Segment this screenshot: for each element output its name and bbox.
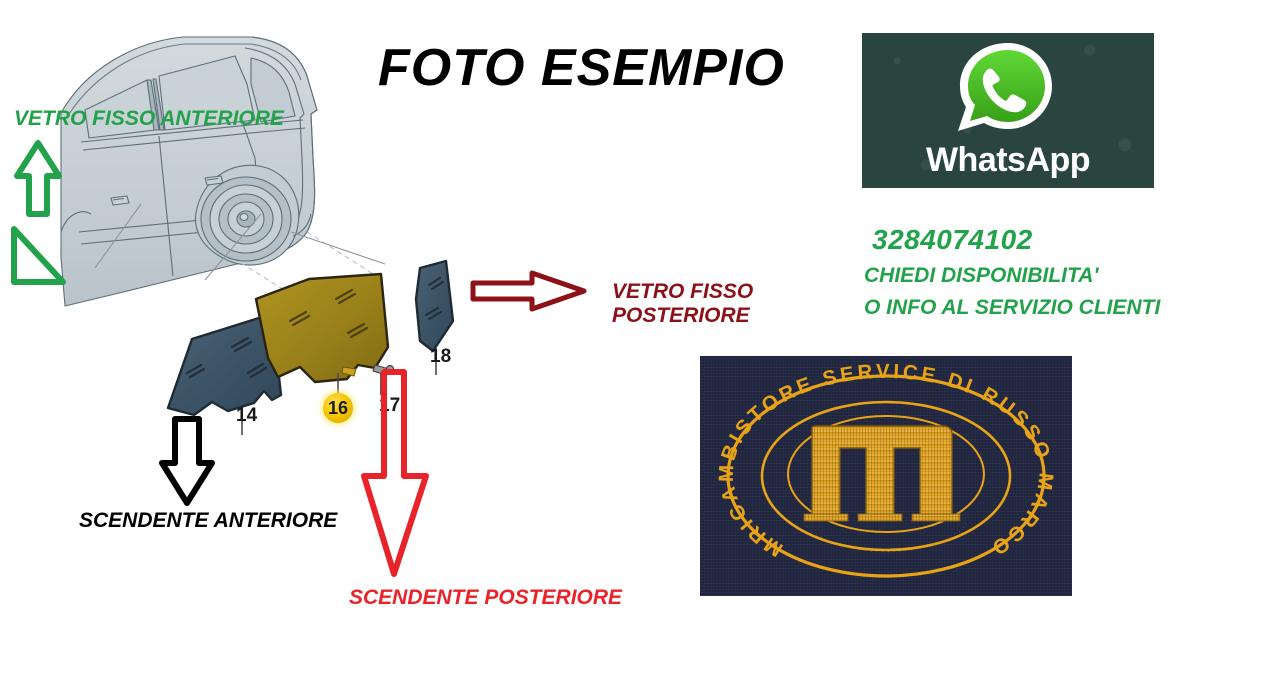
down-arrow-icon-red — [360, 368, 432, 585]
label-vetro-fisso-posteriore: VETRO FISSO POSTERIORE — [612, 280, 753, 327]
down-arrow-icon-black — [157, 415, 217, 512]
triangle-icon-green — [8, 225, 68, 292]
whatsapp-wordmark: WhatsApp — [862, 141, 1154, 180]
part-number-18: 18 — [430, 346, 451, 368]
up-arrow-icon-green — [14, 140, 62, 223]
availability-line-1: CHIEDI DISPONIBILITA' — [864, 264, 1098, 288]
right-arrow-icon-darkred — [470, 269, 588, 318]
whatsapp-icon — [934, 39, 1082, 150]
phone-number[interactable]: 3284074102 — [872, 224, 1033, 256]
whatsapp-banner: WhatsApp — [862, 33, 1154, 188]
poster-canvas: 14 16 17 18 VETRO FISSO ANTERIORE VETRO … — [0, 0, 1264, 678]
part-number-16-badge: 16 — [323, 393, 353, 423]
label-vetro-fisso-anteriore: VETRO FISSO ANTERIORE — [14, 107, 284, 131]
page-title: FOTO ESEMPIO — [378, 38, 785, 98]
label-scendente-anteriore: SCENDENTE ANTERIORE — [79, 509, 337, 533]
label-scendente-posteriore: SCENDENTE POSTERIORE — [349, 586, 622, 610]
availability-line-2: O INFO AL SERVIZIO CLIENTI — [864, 296, 1160, 320]
part-number-14: 14 — [236, 405, 257, 427]
shop-logo: MRICAMBISTORE SERVICE DI RUSSO MARCO . .… — [700, 356, 1072, 596]
